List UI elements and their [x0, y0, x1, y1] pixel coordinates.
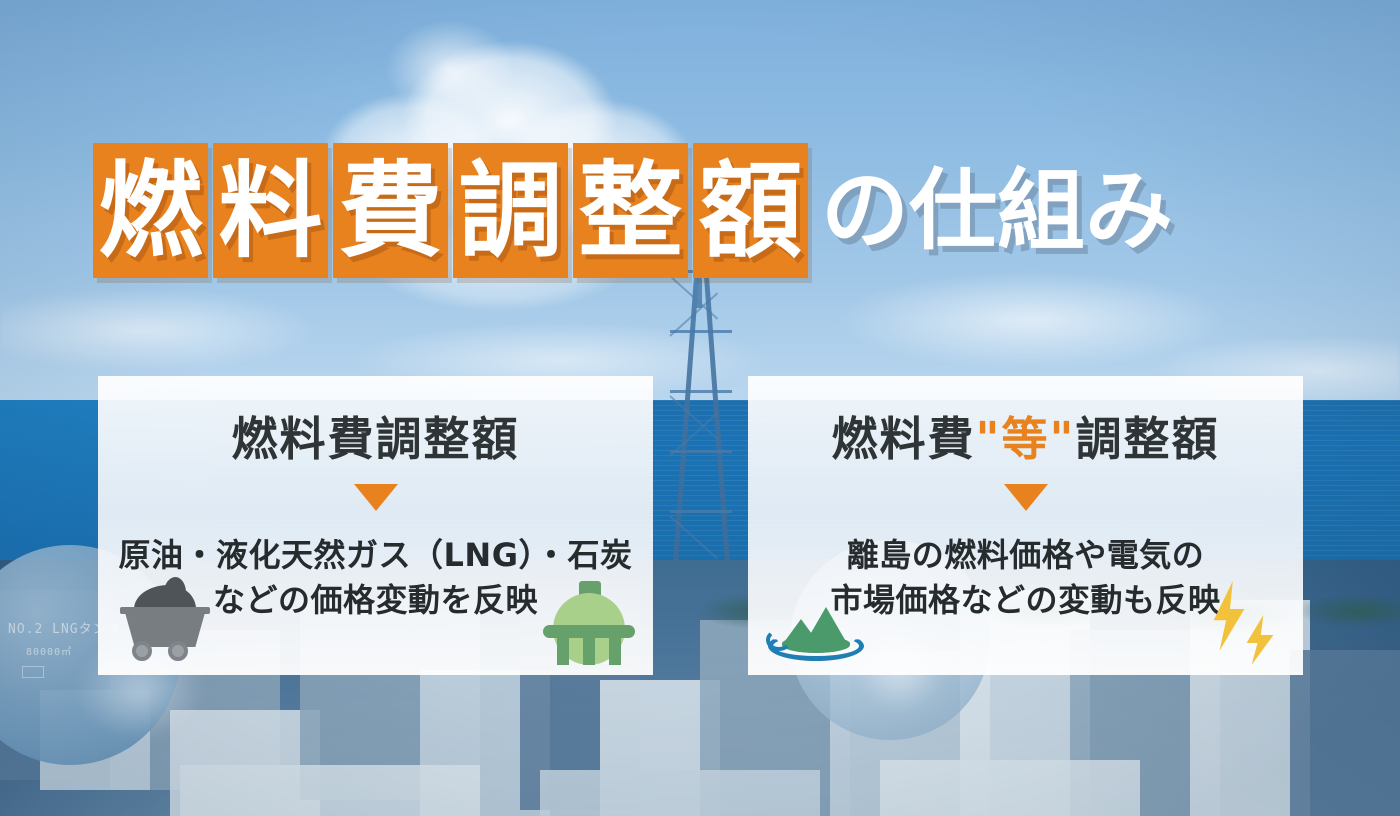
title-char-box: 額 [693, 143, 808, 278]
card-body-line: 離島の燃料価格や電気の [748, 533, 1303, 578]
page-title: 燃 料 費 調 整 額 の仕組み [93, 143, 1173, 278]
title-char: 費 [338, 159, 442, 263]
banner-stage: NO.2 LNGタンク 80000㎥ 燃 料 費 調 整 額 の仕組み 燃料費調… [0, 0, 1400, 816]
title-char-box: 整 [573, 143, 688, 278]
title-char-box: 燃 [93, 143, 208, 278]
card-fuel-cost-etc-adjustment: 燃料費"等"調整額 離島の燃料価格や電気の 市場価格などの変動も反映 [748, 376, 1303, 675]
title-char: 整 [578, 159, 682, 263]
info-cards: 燃料費調整額 原油・液化天然ガス（LNG）・石炭 などの価格変動を反映 [0, 376, 1400, 676]
card-heading: 燃料費"等"調整額 [748, 416, 1303, 462]
title-char: 料 [218, 159, 322, 263]
title-char: 燃 [98, 159, 202, 263]
card-heading-quote-close: " [1050, 412, 1076, 466]
card-heading-accent: 等 [1002, 412, 1050, 466]
card-heading-text: 燃料費 [832, 412, 976, 466]
gas-tank-icon [543, 581, 635, 665]
island-icon [768, 599, 864, 661]
card-fuel-cost-adjustment: 燃料費調整額 原油・液化天然ガス（LNG）・石炭 などの価格変動を反映 [98, 376, 653, 675]
title-char-box: 費 [333, 143, 448, 278]
down-triangle-icon [1004, 484, 1048, 511]
lightning-bolt-icon [1201, 581, 1293, 667]
title-char-box: 調 [453, 143, 568, 278]
card-heading-text: 調整額 [1075, 412, 1219, 466]
card-heading-quote-open: " [976, 412, 1002, 466]
title-suffix: の仕組み [821, 167, 1173, 255]
title-char: 調 [458, 159, 562, 263]
title-char: 額 [698, 159, 802, 263]
down-triangle-icon [354, 484, 398, 511]
card-body-line: 原油・液化天然ガス（LNG）・石炭 [98, 533, 653, 578]
card-heading-text: 燃料費調整額 [232, 412, 520, 466]
card-heading: 燃料費調整額 [98, 416, 653, 462]
coal-cart-icon [116, 585, 212, 663]
title-char-box: 料 [213, 143, 328, 278]
